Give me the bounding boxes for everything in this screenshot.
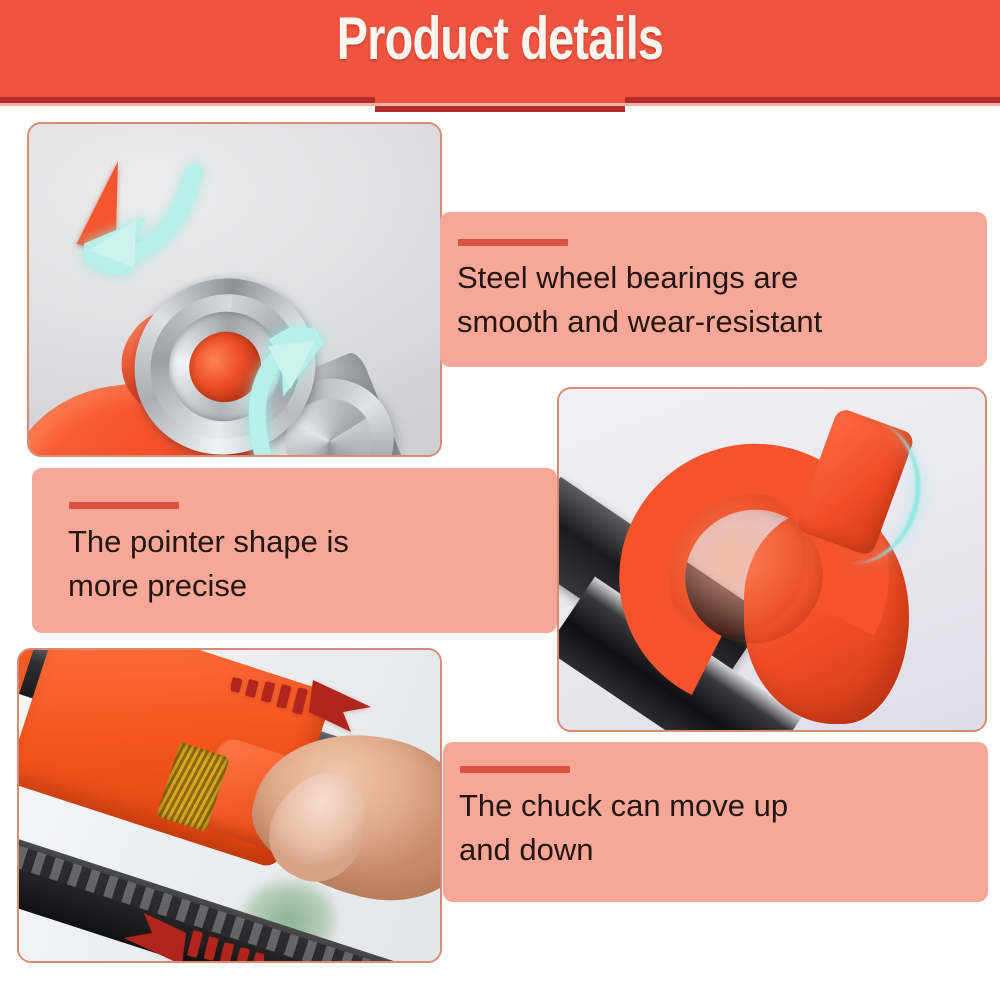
rotation-arrow-icon — [84, 164, 204, 274]
direction-arrow-icon-left — [94, 905, 264, 961]
photo-steel-bearings — [27, 122, 442, 457]
caption-text-bearings: Steel wheel bearings are smooth and wear… — [457, 256, 977, 344]
caption-card-pointer: The pointer shape is more precise — [32, 468, 557, 633]
header-banner: Product details — [0, 0, 1000, 103]
accent-bar — [460, 766, 570, 773]
header-divider-rule — [0, 103, 1000, 106]
banner-left-wing — [0, 80, 375, 103]
direction-arrow-icon-right — [231, 660, 401, 740]
banner-right-wing — [625, 80, 1000, 103]
accent-bar — [458, 239, 568, 246]
photo-chuck-movement — [17, 648, 442, 963]
accent-bar — [69, 502, 179, 509]
page-title: Product details — [110, 6, 890, 72]
caption-card-bearings: Steel wheel bearings are smooth and wear… — [440, 212, 987, 367]
caption-text-pointer: The pointer shape is more precise — [68, 520, 538, 608]
caption-card-chuck: The chuck can move up and down — [443, 742, 988, 902]
product-details-infographic: Product details — [0, 0, 1000, 1000]
photo-pointer-shape — [557, 387, 987, 732]
caption-text-chuck: The chuck can move up and down — [459, 784, 969, 872]
